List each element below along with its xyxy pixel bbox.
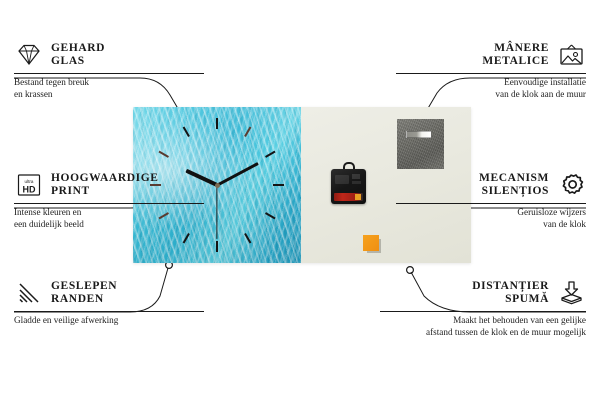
- callout-divider: [380, 311, 586, 312]
- clock-tick: [265, 212, 276, 219]
- mechanism-battery: [334, 193, 363, 201]
- clock-tick: [183, 233, 190, 244]
- clock-second-hand: [216, 185, 217, 239]
- callout-title: MÂNERE METALICE: [482, 42, 549, 68]
- clock-tick: [216, 118, 218, 129]
- callout-manere-metalice: MÂNERE METALICE Eenvoudige installatie v…: [396, 40, 586, 100]
- ultra-hd-icon: ultra HD: [14, 172, 44, 198]
- callout-title: GEHARD GLAS: [51, 42, 105, 68]
- callout-hoogwaardige-print: ultra HD HOOGWAARDIGE PRINT Intense kleu…: [14, 170, 204, 230]
- clock-tick: [183, 126, 190, 137]
- callout-description: Eenvoudige installatie van de klok aan d…: [396, 77, 586, 100]
- callout-header: GEHARD GLAS: [14, 40, 204, 70]
- clock-tick: [158, 151, 169, 158]
- svg-text:ultra: ultra: [25, 179, 34, 184]
- mechanism-label: [352, 181, 361, 184]
- clock-tick: [265, 151, 276, 158]
- battery-plus-terminal: [355, 194, 361, 200]
- callout-divider: [14, 73, 204, 74]
- clock-face: [133, 107, 301, 263]
- callout-header: MECANISM SILENȚIOS: [396, 170, 586, 200]
- infographic-stage: GEHARD GLAS Bestand tegen breuk en krass…: [0, 0, 600, 400]
- mechanism-label: [335, 175, 349, 184]
- callout-description: Intense kleuren en een duidelijk beeld: [14, 207, 204, 230]
- callout-mecanism-silentios: MECANISM SILENȚIOS Geruisloze wijzers va…: [396, 170, 586, 230]
- callout-title: HOOGWAARDIGE PRINT: [51, 172, 159, 198]
- callout-geslepen-randen: GESLEPEN RANDEN Gladde en veilige afwerk…: [14, 278, 204, 327]
- gear-icon: [556, 172, 586, 199]
- clock-tick: [244, 233, 251, 244]
- callout-divider: [396, 73, 586, 74]
- svg-text:HD: HD: [23, 185, 36, 195]
- clock-center-cap: [215, 183, 220, 188]
- picture-hanger-icon: [556, 43, 586, 67]
- callout-header: ultra HD HOOGWAARDIGE PRINT: [14, 170, 204, 200]
- clock-tick: [273, 184, 284, 186]
- callout-divider: [396, 203, 586, 204]
- clock-minute-hand: [216, 162, 258, 186]
- clock-tick: [150, 184, 161, 186]
- diamond-icon: [14, 43, 44, 67]
- callout-header: MÂNERE METALICE: [396, 40, 586, 70]
- callout-title: GESLEPEN RANDEN: [51, 280, 117, 306]
- foam-spacer: [363, 235, 379, 251]
- callout-distantier-spuma: DISTANȚIER SPUMĂ Maakt het behouden van …: [380, 278, 586, 338]
- callout-header: DISTANȚIER SPUMĂ: [380, 278, 586, 308]
- callout-gehard-glas: GEHARD GLAS Bestand tegen breuk en krass…: [14, 40, 204, 100]
- callout-title: DISTANȚIER SPUMĂ: [472, 280, 549, 306]
- metal-hanger-strip: [406, 131, 432, 138]
- clock-tick: [216, 241, 218, 252]
- callout-description: Maakt het behouden van een gelijke afsta…: [380, 315, 586, 338]
- clock-mechanism: [331, 167, 366, 204]
- callout-divider: [14, 311, 204, 312]
- metal-hanger-photo: [397, 119, 444, 169]
- callout-divider: [14, 203, 204, 204]
- mechanism-body: [331, 169, 366, 204]
- callout-description: Bestand tegen breuk en krassen: [14, 77, 204, 100]
- bevelled-edges-icon: [14, 281, 44, 305]
- spacer-download-icon: [556, 280, 586, 306]
- clock-tick: [244, 126, 251, 137]
- callout-title: MECANISM SILENȚIOS: [479, 172, 549, 198]
- callout-header: GESLEPEN RANDEN: [14, 278, 204, 308]
- callout-description: Geruisloze wijzers van de klok: [396, 207, 586, 230]
- mechanism-label: [352, 174, 360, 179]
- callout-description: Gladde en veilige afwerking: [14, 315, 204, 327]
